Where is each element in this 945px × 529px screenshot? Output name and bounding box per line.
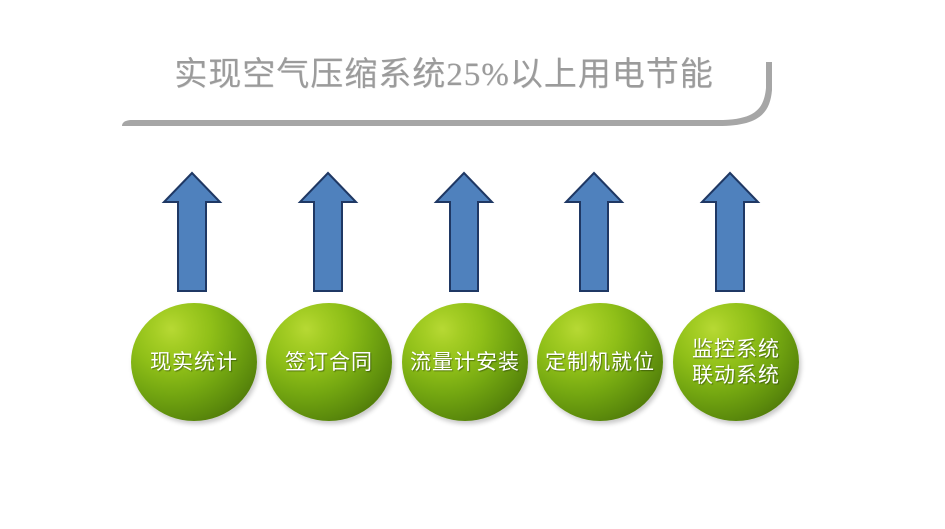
slide-canvas: 实现空气压缩系统25%以上用电节能 现实统计 签订合同 流量计安装 — [0, 0, 945, 529]
step-node-2[interactable]: 签订合同 — [266, 303, 392, 421]
arrow-step-5 — [699, 170, 761, 294]
arrow-step-2 — [297, 170, 359, 294]
step-node-3-label: 流量计安装 — [410, 349, 520, 375]
arrow-step-4 — [563, 170, 625, 294]
step-node-5-label-line-1: 监控系统 — [692, 337, 780, 361]
step-node-2-label: 签订合同 — [285, 349, 373, 375]
arrow-step-1 — [161, 170, 223, 294]
step-node-5-label-line-2: 联动系统 — [692, 363, 780, 387]
page-title: 实现空气压缩系统25%以上用电节能 — [154, 52, 734, 98]
step-node-4-label: 定制机就位 — [545, 349, 655, 375]
step-node-5[interactable]: 监控系统 联动系统 — [673, 303, 799, 421]
step-node-1-label: 现实统计 — [150, 349, 238, 375]
step-node-1[interactable]: 现实统计 — [131, 303, 257, 421]
step-node-5-label: 监控系统 联动系统 — [679, 336, 794, 388]
step-node-3[interactable]: 流量计安装 — [402, 303, 528, 421]
title-banner: 实现空气压缩系统25%以上用电节能 — [118, 38, 778, 138]
step-node-4[interactable]: 定制机就位 — [537, 303, 663, 421]
arrow-step-3 — [433, 170, 495, 294]
